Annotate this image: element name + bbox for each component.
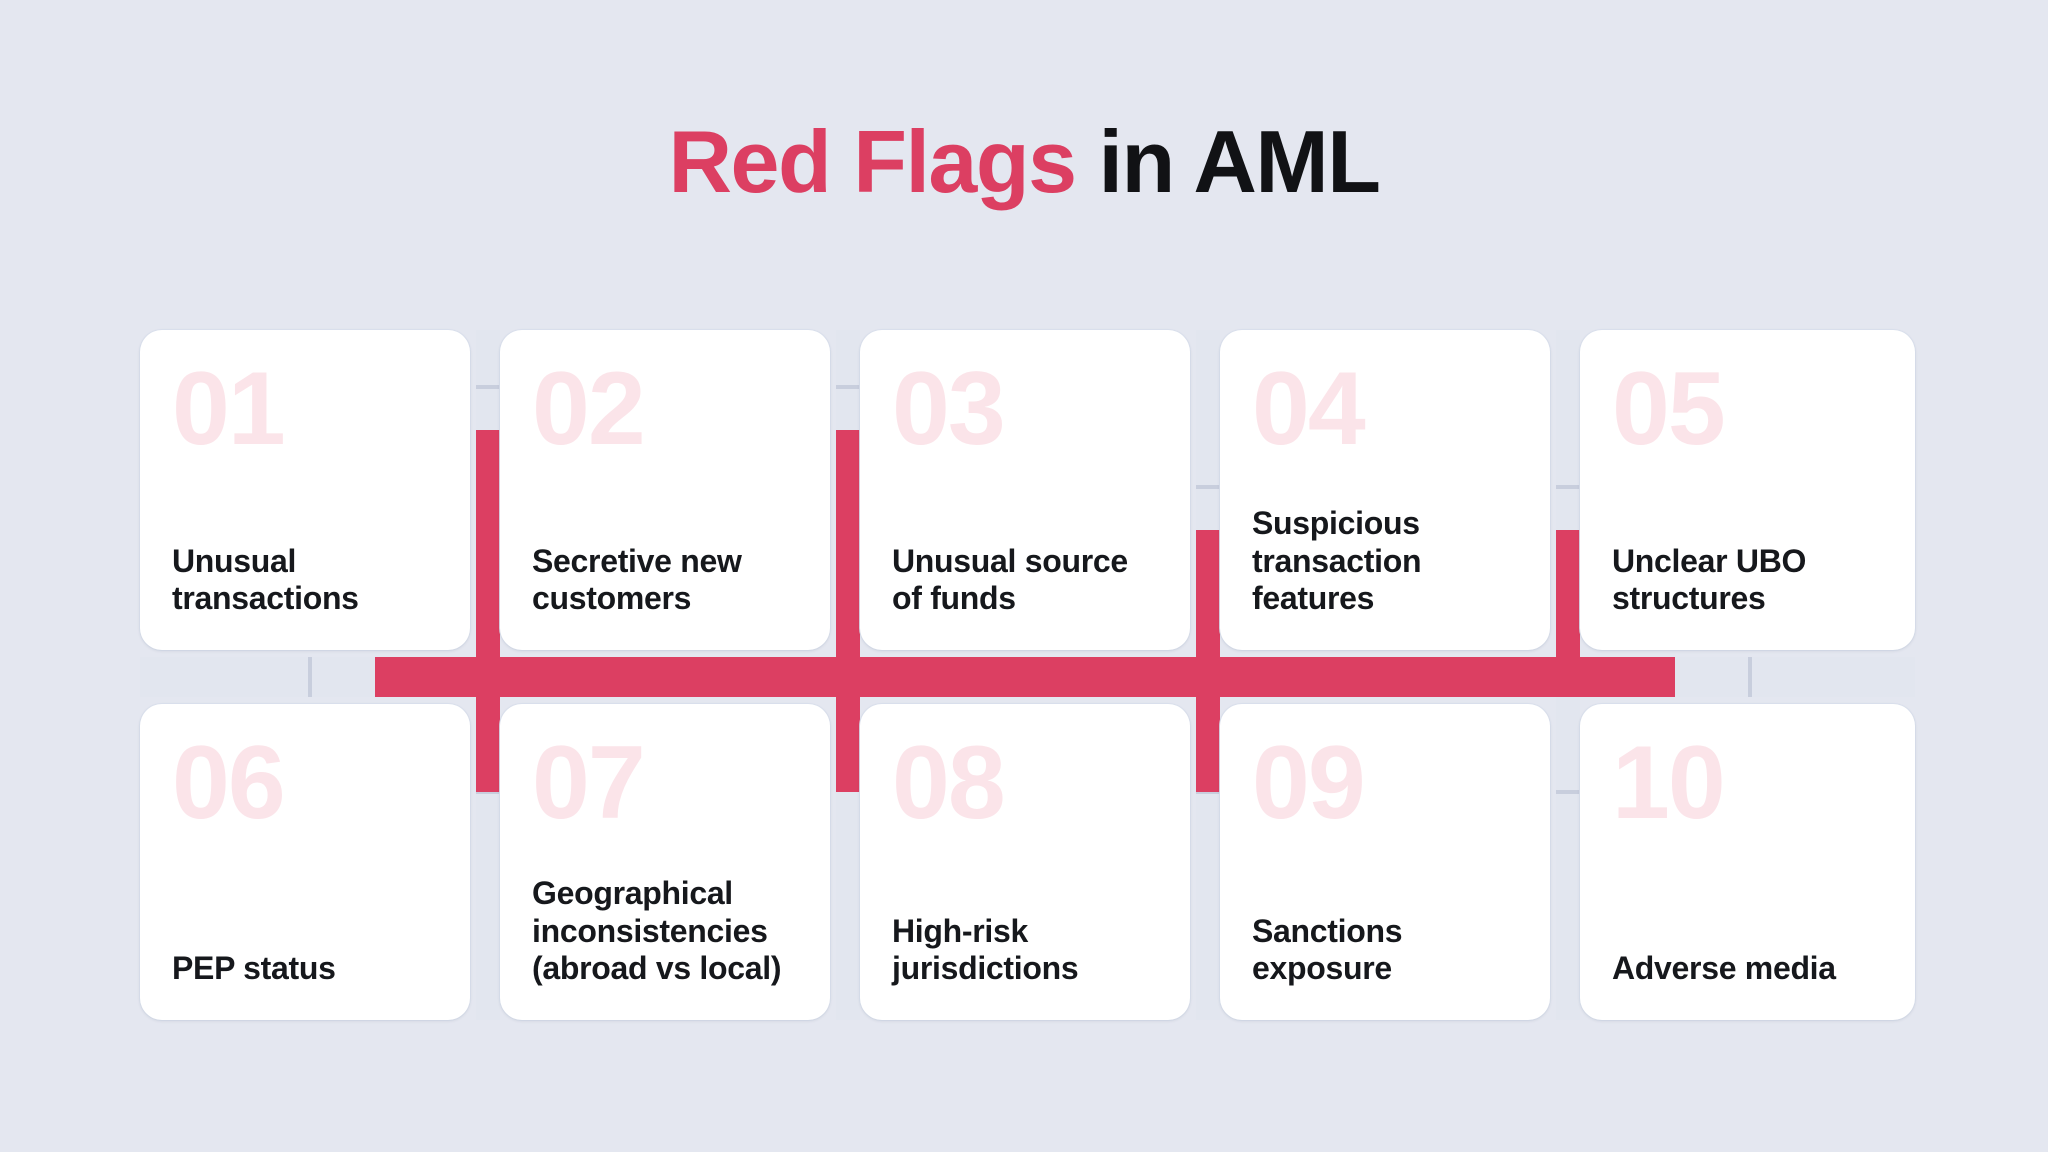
track-tick-3	[1196, 485, 1220, 489]
track-tick-9	[1748, 657, 1752, 697]
infographic-poster: Red Flags in AML 01 Unusual transaction	[0, 0, 2048, 1152]
connector-pipe-vertical-5	[476, 657, 500, 792]
card-03[interactable]: 03 Unusual source of funds	[860, 330, 1190, 650]
connector-pipe-vertical-4	[1556, 530, 1580, 697]
card-label: Unusual transactions	[172, 543, 438, 619]
card-number: 06	[172, 738, 438, 830]
title-rest-text: in AML	[1076, 112, 1380, 211]
connector-pipe-vertical-6	[836, 657, 860, 792]
card-10[interactable]: 10 Adverse media	[1580, 704, 1915, 1020]
cards-board: 01 Unusual transactions 02 Secretive new…	[140, 330, 1915, 1020]
card-number: 01	[172, 364, 438, 456]
track-tick-1	[476, 385, 500, 389]
card-number: 03	[892, 364, 1158, 456]
card-label: Geographical inconsistencies (abroad vs …	[532, 875, 798, 988]
card-label: Unclear UBO structures	[1612, 543, 1883, 619]
card-02[interactable]: 02 Secretive new customers	[500, 330, 830, 650]
card-08[interactable]: 08 High-risk jurisdictions	[860, 704, 1190, 1020]
card-number: 07	[532, 738, 798, 830]
card-number: 05	[1612, 364, 1883, 456]
card-07[interactable]: 07 Geographical inconsistencies (abroad …	[500, 704, 830, 1020]
card-01[interactable]: 01 Unusual transactions	[140, 330, 470, 650]
track-tick-7	[1556, 790, 1580, 794]
card-label: Adverse media	[1612, 950, 1883, 988]
card-04[interactable]: 04 Suspicious transaction features	[1220, 330, 1550, 650]
card-number: 08	[892, 738, 1158, 830]
card-number: 04	[1252, 364, 1518, 456]
card-06[interactable]: 06 PEP status	[140, 704, 470, 1020]
connector-pipe-vertical-7	[1196, 657, 1220, 792]
connector-pipe-horizontal	[375, 657, 1675, 697]
title-accent-text: Red Flags	[669, 112, 1076, 211]
card-label: Secretive new customers	[532, 543, 798, 619]
card-05[interactable]: 05 Unclear UBO structures	[1580, 330, 1915, 650]
page-title: Red Flags in AML	[0, 118, 2048, 206]
card-label: Unusual source of funds	[892, 543, 1158, 619]
card-number: 10	[1612, 738, 1883, 830]
card-09[interactable]: 09 Sanctions exposure	[1220, 704, 1550, 1020]
card-number: 02	[532, 364, 798, 456]
card-label: Sanctions exposure	[1252, 913, 1518, 989]
card-number: 09	[1252, 738, 1518, 830]
title-heading: Red Flags in AML	[0, 118, 2048, 206]
track-tick-2	[836, 385, 860, 389]
card-label: Suspicious transaction features	[1252, 505, 1518, 618]
track-tick-8	[308, 657, 312, 697]
card-label: High-risk jurisdictions	[892, 913, 1158, 989]
card-label: PEP status	[172, 950, 438, 988]
track-tick-4	[1556, 485, 1580, 489]
